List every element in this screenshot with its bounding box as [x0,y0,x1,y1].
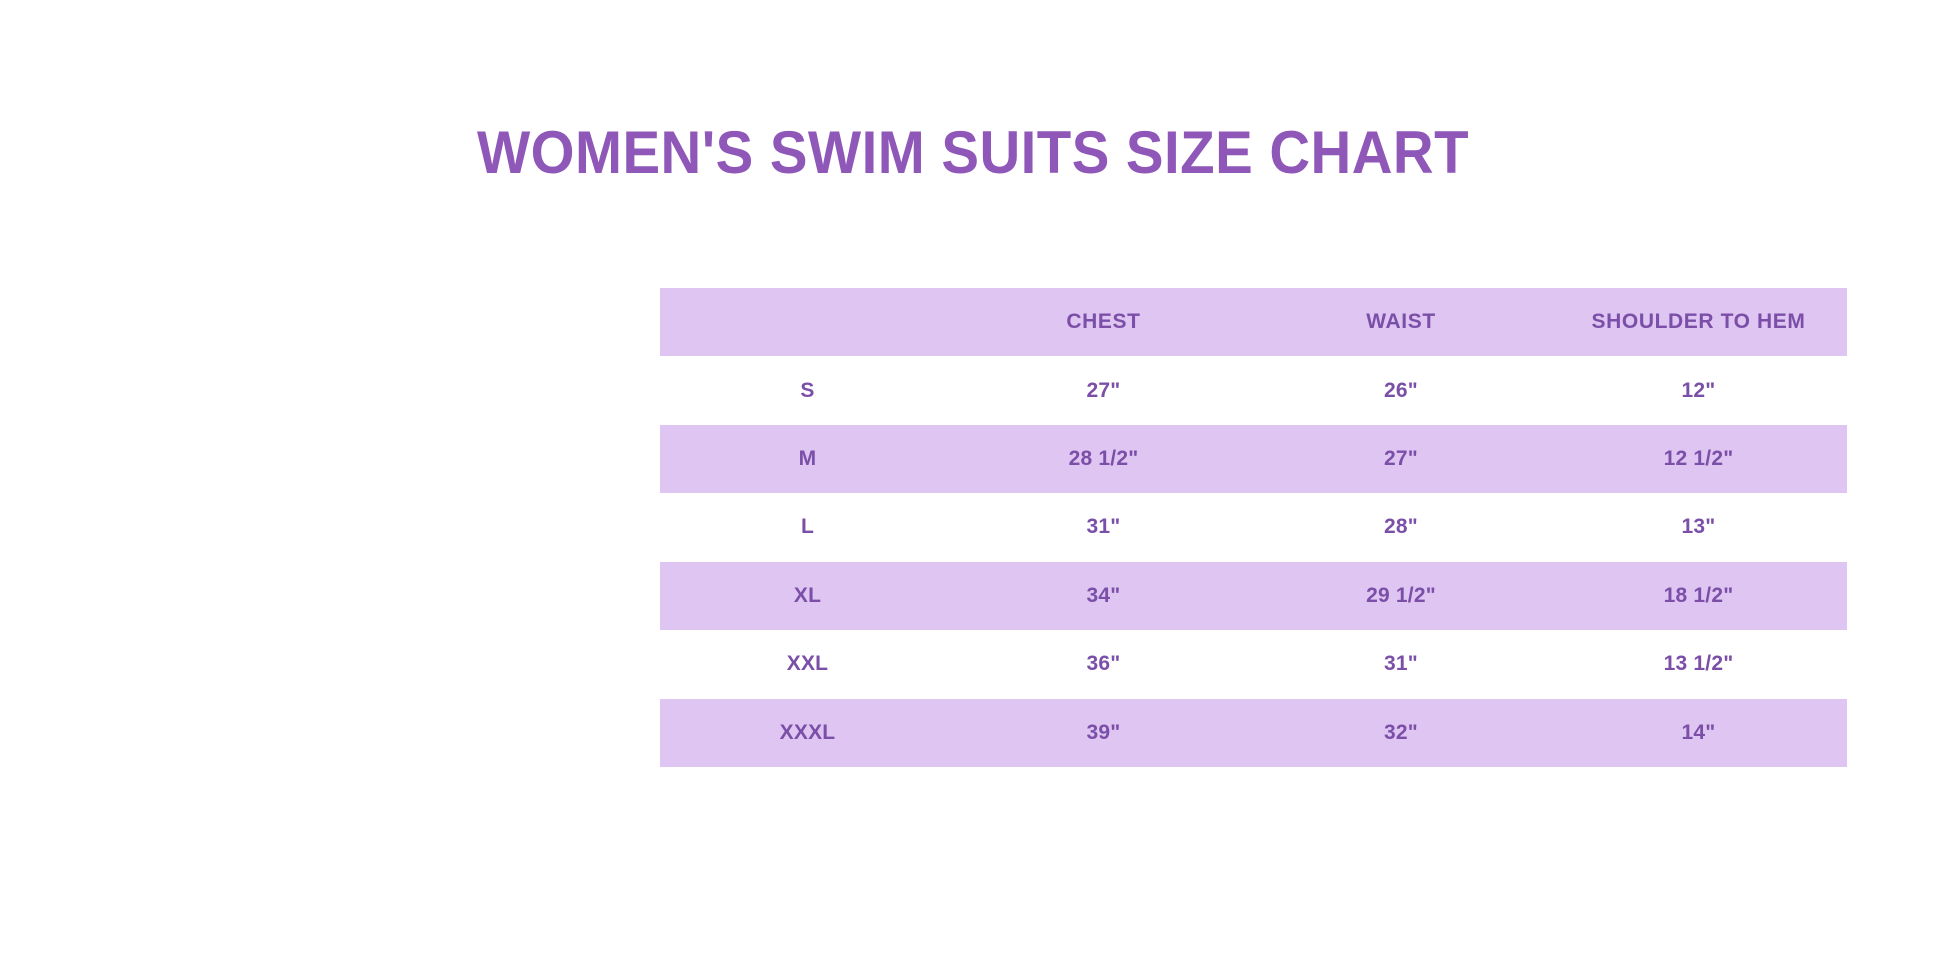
cell-waist: 26" [1252,356,1550,424]
cell-waist: 32" [1252,699,1550,767]
cell-chest: 28 1/2" [955,425,1252,493]
table-row: S 27" 26" 12" [660,356,1847,424]
cell-waist: 27" [1252,425,1550,493]
column-header-size [660,288,955,356]
cell-shoulder-to-hem: 18 1/2" [1550,562,1847,630]
cell-size: L [660,493,955,561]
table-row: L 31" 28" 13" [660,493,1847,561]
table-row: M 28 1/2" 27" 12 1/2" [660,425,1847,493]
size-chart-table: CHEST WAIST SHOULDER TO HEM S 27" 26" 12… [660,288,1847,767]
table-row: XL 34" 29 1/2" 18 1/2" [660,562,1847,630]
cell-size: XXL [660,630,955,698]
cell-shoulder-to-hem: 12" [1550,356,1847,424]
cell-size: XXXL [660,699,955,767]
cell-waist: 28" [1252,493,1550,561]
column-header-waist: WAIST [1252,288,1550,356]
cell-size: XL [660,562,955,630]
column-header-chest: CHEST [955,288,1252,356]
cell-waist: 29 1/2" [1252,562,1550,630]
cell-shoulder-to-hem: 13" [1550,493,1847,561]
size-chart-table-container: CHEST WAIST SHOULDER TO HEM S 27" 26" 12… [660,288,1847,767]
cell-chest: 34" [955,562,1252,630]
cell-shoulder-to-hem: 12 1/2" [1550,425,1847,493]
cell-chest: 39" [955,699,1252,767]
cell-size: M [660,425,955,493]
table-header-row: CHEST WAIST SHOULDER TO HEM [660,288,1847,356]
page-title: WOMEN'S SWIM SUITS SIZE CHART [58,118,1887,188]
cell-shoulder-to-hem: 14" [1550,699,1847,767]
cell-chest: 27" [955,356,1252,424]
size-chart-page: WOMEN'S SWIM SUITS SIZE CHART CHEST WAIS… [0,0,1946,973]
column-header-shoulder-to-hem: SHOULDER TO HEM [1550,288,1847,356]
cell-shoulder-to-hem: 13 1/2" [1550,630,1847,698]
table-row: XXXL 39" 32" 14" [660,699,1847,767]
cell-waist: 31" [1252,630,1550,698]
cell-chest: 31" [955,493,1252,561]
table-row: XXL 36" 31" 13 1/2" [660,630,1847,698]
cell-size: S [660,356,955,424]
cell-chest: 36" [955,630,1252,698]
